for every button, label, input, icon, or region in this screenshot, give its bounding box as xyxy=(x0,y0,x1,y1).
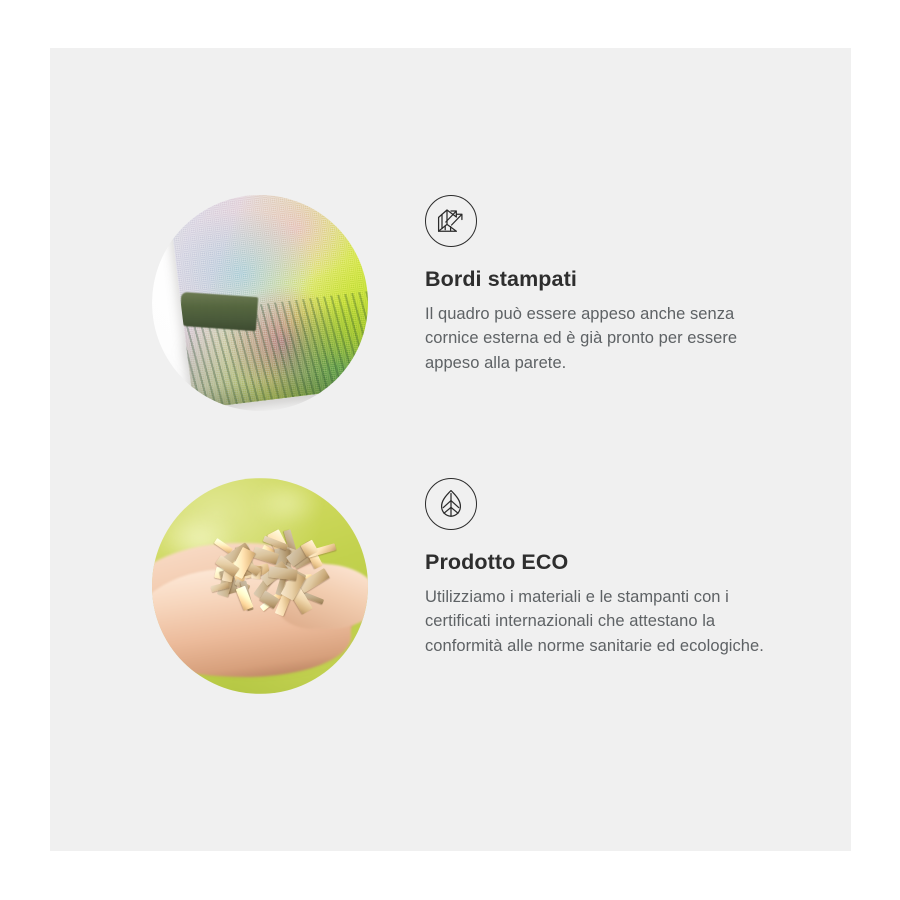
wood-chips-hands-photo xyxy=(152,478,368,694)
wood-chip-pile xyxy=(208,538,333,624)
feature-description: Utilizziamo i materiali e le stampanti c… xyxy=(425,585,785,659)
feature-eco-product: Prodotto ECO Utilizziamo i materiali e l… xyxy=(50,478,851,768)
feature-text-block: Prodotto ECO Utilizziamo i materiali e l… xyxy=(425,478,797,658)
canvas-corner-photo xyxy=(152,195,368,411)
printed-canvas-corner xyxy=(168,195,368,409)
feature-title: Bordi stampati xyxy=(425,267,797,293)
content-panel: Bordi stampati Il quadro può essere appe… xyxy=(50,48,851,851)
canvas-wrapped-edge xyxy=(179,292,258,332)
leaf-icon xyxy=(425,478,477,530)
feature-title: Prodotto ECO xyxy=(425,550,797,576)
printed-edges-icon xyxy=(425,195,477,247)
eco-photo-content xyxy=(152,478,368,694)
feature-description: Il quadro può essere appeso anche senza … xyxy=(425,302,785,376)
product-feature-page: Bordi stampati Il quadro può essere appe… xyxy=(0,0,900,900)
feature-text-block: Bordi stampati Il quadro può essere appe… xyxy=(425,195,797,375)
feature-printed-edges: Bordi stampati Il quadro può essere appe… xyxy=(50,195,851,485)
